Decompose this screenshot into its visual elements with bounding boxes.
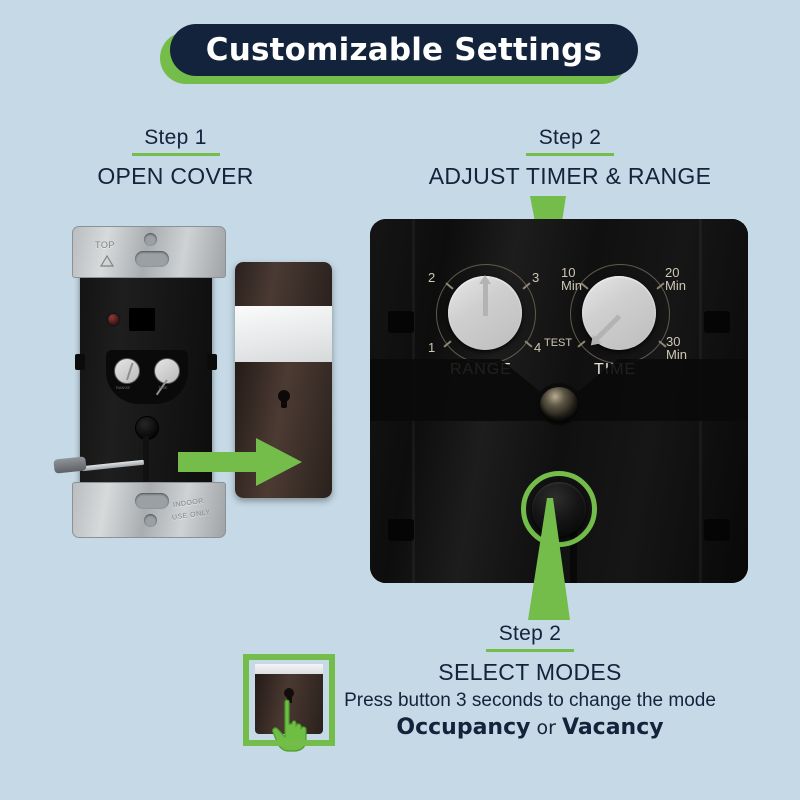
time-tick-30min: 30 Min	[666, 335, 687, 361]
range-tick-1: 1	[428, 341, 435, 354]
wall-plate-bottom: INDOOR USE ONLY	[72, 482, 226, 538]
cover-top-band	[235, 262, 332, 306]
time-dial-small[interactable]	[154, 358, 180, 384]
range-tick-4: 4	[534, 341, 541, 354]
time-tick-20min: 20 Min	[665, 266, 686, 292]
screwdriver-icon	[60, 455, 144, 477]
sensor-lens-window	[129, 308, 155, 331]
plate-bottom-marking-line2: USE ONLY	[172, 508, 212, 522]
range-tick-3: 3	[532, 271, 539, 284]
step3-down-arrow-icon	[520, 498, 578, 620]
title-text: Customizable Settings	[206, 32, 602, 68]
panel-tab-right-bottom	[704, 519, 730, 541]
mode-icon-frame	[243, 654, 335, 746]
screwdriver-handle	[53, 456, 86, 473]
step-3-underline	[486, 649, 574, 652]
range-dial-needle	[483, 282, 488, 316]
plate-bottom-marking-line1: INDOOR	[173, 497, 205, 510]
plate-top-slot	[135, 251, 169, 267]
mode-press-illustration	[243, 654, 335, 746]
range-dial-small[interactable]	[114, 358, 140, 384]
sensor-tab-left	[75, 354, 85, 370]
step-2-label-wrap: Step 2	[400, 126, 740, 156]
step-1-heading: OPEN COVER	[43, 163, 308, 190]
step-1-underline	[132, 153, 220, 156]
range-dial[interactable]	[448, 276, 522, 350]
step-2-heading: ADJUST TIMER & RANGE	[400, 163, 740, 190]
mode-vacancy: Vacancy	[562, 715, 664, 740]
panel-tab-left-top	[388, 311, 414, 333]
step-1-label-wrap: Step 1	[43, 126, 308, 156]
wall-plate-assembly: RANGE TIME TOP INDOOR USE ONLY	[60, 200, 240, 560]
status-led-icon	[108, 314, 119, 325]
page-title: Customizable Settings	[160, 24, 640, 88]
mode-joiner: or	[530, 717, 562, 739]
keyhole-tail-icon	[281, 401, 287, 408]
panel-tab-left-bottom	[388, 519, 414, 541]
triangle-up-icon	[100, 255, 114, 267]
step-2-label: Step 2	[539, 126, 602, 150]
photocell-dome-icon	[540, 387, 578, 421]
time-tick-10min: 10 Min	[561, 266, 582, 292]
range-tick-2: 2	[428, 271, 435, 284]
mode-occupancy: Occupancy	[396, 715, 530, 740]
wall-plate-top: TOP	[72, 226, 226, 278]
step-3-heading: SELECT MODES	[330, 659, 730, 686]
step-1-label: Step 1	[144, 126, 207, 150]
step-3-label: Step 2	[499, 622, 562, 646]
step-2-heading-block: Step 2 ADJUST TIMER & RANGE	[400, 126, 740, 190]
step-3-label-wrap: Step 2	[330, 622, 730, 652]
plate-bottom-slot	[135, 493, 169, 509]
step-1-heading-block: Step 1 OPEN COVER	[43, 126, 308, 190]
plate-top-marking: TOP	[95, 240, 115, 250]
sensor-tab-right	[207, 354, 217, 370]
time-tick-10min-unit: Min	[561, 278, 582, 293]
step-3-modes: Occupancy or Vacancy	[330, 715, 730, 740]
range-needle-small	[126, 363, 133, 381]
time-tick-test: TEST	[544, 337, 572, 350]
time-dial-needle	[593, 314, 621, 342]
infographic-canvas: Customizable Settings Step 1 OPEN COVER …	[0, 0, 800, 800]
step1-arrow-icon	[178, 438, 302, 486]
step-2-underline	[526, 153, 614, 156]
plate-top-screw-hole	[144, 233, 157, 246]
time-dial[interactable]	[582, 276, 656, 350]
time-tick-20min-unit: Min	[665, 278, 686, 293]
panel-tab-right-top	[704, 311, 730, 333]
step-3-instruction: Press button 3 seconds to change the mod…	[330, 690, 730, 712]
title-pill: Customizable Settings	[170, 24, 638, 76]
plate-bottom-screw-hole	[144, 514, 157, 527]
step-3-heading-block: Step 2 SELECT MODES Press button 3 secon…	[330, 622, 730, 740]
cover-lens	[235, 306, 332, 362]
dial-plate-small: RANGE TIME	[106, 350, 188, 404]
screwdriver-shaft	[82, 460, 144, 471]
